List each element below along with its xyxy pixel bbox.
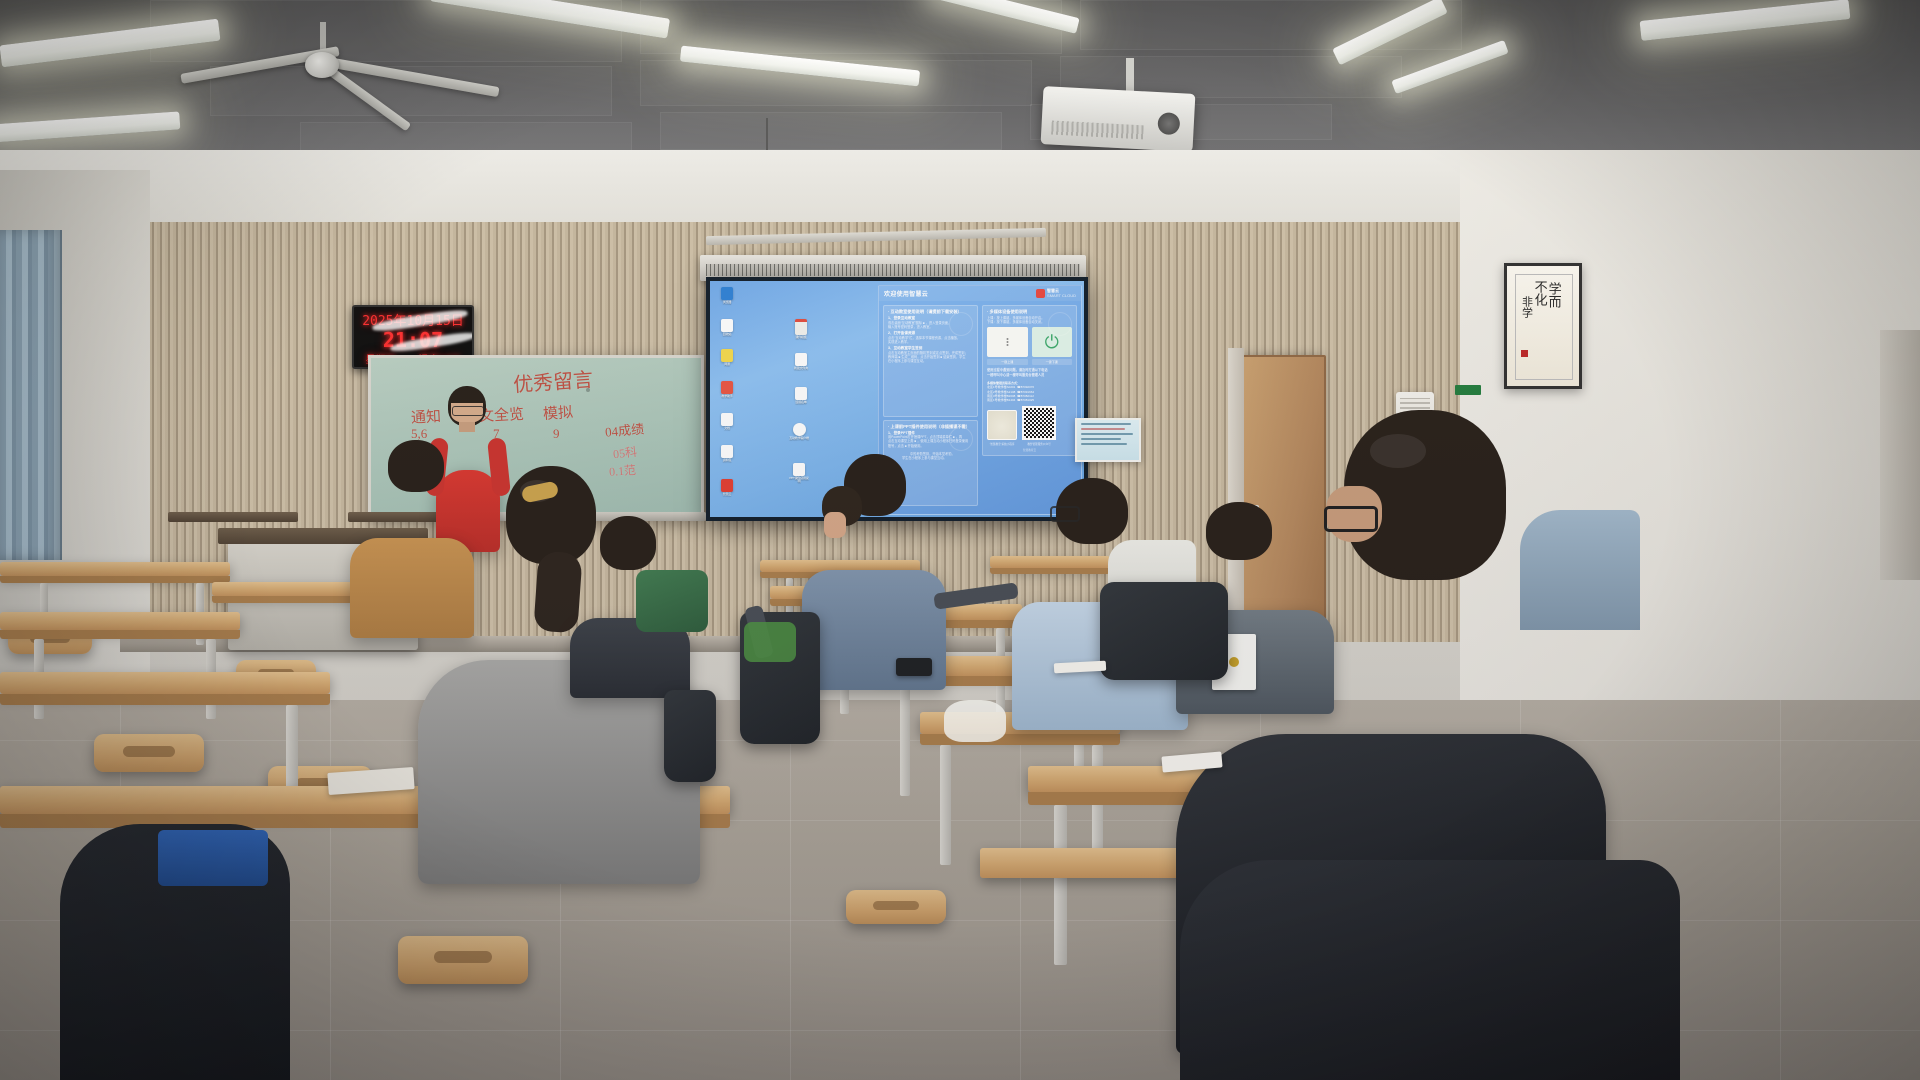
- item-line: 在小程序上参与课堂互动。: [888, 359, 973, 363]
- plastic-bag: [944, 700, 1006, 742]
- desk: [212, 582, 372, 596]
- classroom-scene: 2025年10月15日 21:07 星期四 温度27℃ 优秀留言 通知 5,6 …: [0, 0, 1920, 1080]
- brand-logo: 智慧云 SMART CLOUD: [1036, 289, 1076, 298]
- room-photo: [987, 410, 1017, 440]
- teacher-head: [448, 386, 486, 426]
- brand-mark-icon: [1036, 289, 1045, 298]
- backpack: [740, 612, 820, 744]
- chair: [398, 936, 528, 984]
- resource-pack-icon: [721, 445, 733, 458]
- desktop-icon[interactable]: 课件模板: [794, 319, 808, 339]
- wall-cabinet: [1880, 330, 1920, 580]
- student-head: [600, 516, 656, 570]
- desktop-icon[interactable]: 班级名单: [794, 387, 808, 404]
- desk: [0, 562, 230, 576]
- switch-plate-icon: [1003, 335, 1012, 349]
- board-note: 9: [553, 426, 560, 442]
- brand-subname: SMART CLOUD: [1047, 294, 1076, 299]
- power-on-illustration: 一键上课: [987, 327, 1028, 365]
- notebook: [158, 830, 268, 886]
- desk: [0, 672, 330, 694]
- slide-right-column: · 多媒体设备使用说明 上课：按上课键，多媒体设备自动开启。 下课：按下课键，多…: [982, 305, 1077, 506]
- multimedia-device-card: · 多媒体设备使用说明 上课：按上课键，多媒体设备自动开启。 下课：按下课键，多…: [982, 305, 1077, 456]
- chair: [846, 890, 946, 924]
- button-caption: 一键下课: [1032, 359, 1073, 365]
- slide-header: 欢迎使用智慧云 智慧云 SMART CLOUD: [879, 286, 1081, 301]
- calligraphy-frame: 学而 不化 非学: [1504, 263, 1582, 389]
- desk-leg: [1054, 805, 1067, 965]
- desk-edge: [0, 630, 240, 639]
- courseware-template-icon: [795, 319, 807, 335]
- contact-room: 北区1号教学楼A0201: [987, 385, 1015, 389]
- window-curtain: [0, 230, 62, 560]
- desktop-icon[interactable]: 教学助手: [720, 381, 734, 398]
- qr-code-icon[interactable]: [1022, 406, 1056, 440]
- student: [822, 486, 872, 546]
- desk-edge: [0, 694, 330, 705]
- teaching-assistant-icon: [721, 381, 733, 394]
- desk-leg: [1092, 745, 1103, 865]
- ceiling-fan-hub: [305, 52, 339, 78]
- power-panel-icon: [987, 327, 1028, 357]
- desktop-icon[interactable]: 回收站: [720, 319, 734, 336]
- item-line: 实现进入教学。: [888, 340, 973, 344]
- warning-line: 一楼呼叫中心或一楼呼叫服务台管理人员: [987, 373, 1072, 377]
- browser-icon: [721, 287, 733, 300]
- button-caption: 一键上课: [987, 359, 1028, 365]
- backpack: [664, 690, 716, 782]
- desktop-icon[interactable]: 文档: [720, 413, 734, 430]
- desk-edge: [0, 576, 230, 583]
- board-heading: 优秀留言: [512, 363, 594, 398]
- chair: [94, 734, 204, 772]
- green-bag: [636, 570, 708, 632]
- wall-notice-board: [1075, 418, 1141, 462]
- board-note: 模拟: [542, 401, 573, 424]
- student: [1520, 510, 1640, 630]
- projector-mount: [1126, 58, 1134, 92]
- seal-icon: [1521, 350, 1528, 357]
- student: [1180, 860, 1680, 1080]
- desktop-icon[interactable]: 互动教学客户端: [788, 423, 810, 440]
- qr-row: “智慧教室”系统小程序 教务管理服务公众号: [987, 406, 1072, 446]
- new-folder-icon: [795, 353, 807, 366]
- contact-row: 南区1号教学楼B1404 ☎87081025: [987, 398, 1072, 402]
- class-roster-icon: [795, 387, 807, 400]
- interactive-client-icon: [793, 423, 806, 436]
- desktop-icon[interactable]: 智慧云: [720, 479, 734, 496]
- board-magnet: [586, 388, 590, 392]
- desktop-icon[interactable]: 新建文件夹: [794, 353, 808, 370]
- lectern-board: [168, 512, 298, 522]
- calligraphy-line-2: 不化: [1533, 280, 1547, 306]
- desk-leg: [940, 745, 951, 865]
- backpack: [1100, 582, 1228, 680]
- exit-sign: [1455, 385, 1481, 395]
- contact-phone: 87081025: [1021, 398, 1034, 402]
- slide-title: 欢迎使用智慧云: [884, 289, 928, 298]
- slide-footer: 智慧教育云: [987, 448, 1072, 452]
- smartphone[interactable]: [896, 658, 932, 676]
- contact-phone: 87092076: [1021, 385, 1034, 389]
- desk: [0, 612, 240, 630]
- ceiling-panel: [660, 112, 1002, 150]
- network-course-icon: [721, 349, 733, 362]
- desktop-icon[interactable]: 网课: [720, 349, 734, 366]
- glasses-icon: [1324, 506, 1378, 532]
- student-hand: [824, 512, 846, 538]
- recycle-bin-icon: [721, 319, 733, 332]
- desktop-icon[interactable]: 资料包: [720, 445, 734, 462]
- watermark-icon: [949, 312, 973, 336]
- desk-leg: [900, 686, 910, 796]
- desktop-icon[interactable]: 浏览器: [720, 287, 734, 304]
- calligraphy-line-1: 学而: [1547, 282, 1561, 308]
- desk-edge: [212, 596, 372, 603]
- ceiling-projector: [1041, 86, 1196, 152]
- calligraphy-line-3: 非学: [1520, 296, 1532, 318]
- watermark-icon: [1048, 312, 1072, 336]
- document-icon: [721, 413, 733, 426]
- qr-caption: “智慧教室”系统小程序: [987, 442, 1017, 446]
- qr-caption: 教务管理服务公众号: [1022, 442, 1056, 446]
- watermark-icon: [949, 427, 973, 451]
- smart-cloud-icon: [721, 479, 733, 492]
- board-note: 04成绩: [604, 418, 645, 440]
- interactive-classroom-card: · 互动教室使用说明（请提前下载安装） 1、登录互动教室 双击桌面“互动教室”图…: [883, 305, 978, 417]
- board-note: 05科: [612, 443, 638, 462]
- glasses-icon: [1050, 506, 1080, 522]
- contact-room: 南区1号教学楼B1404: [987, 398, 1015, 402]
